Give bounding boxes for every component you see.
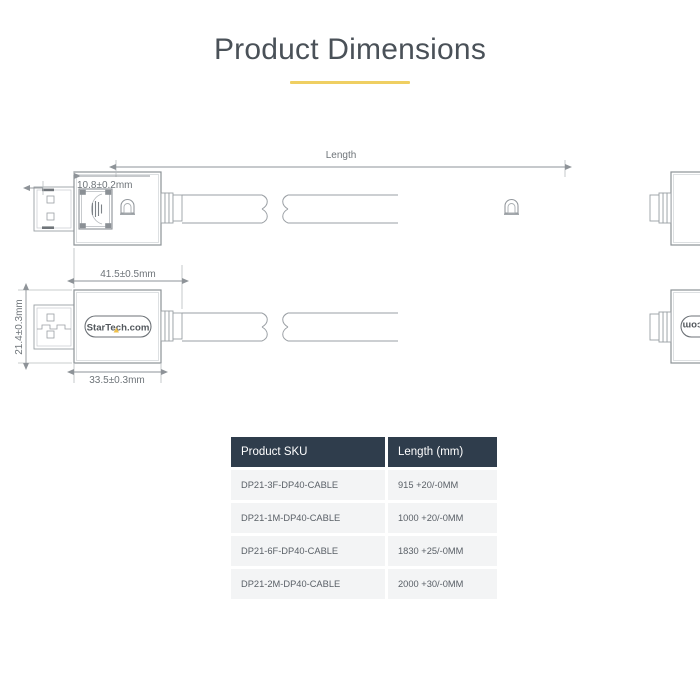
dimension-drawing-svg: Length 10.8±0.2mm [0,145,700,385]
dimension-length-label: Length [326,150,357,161]
spec-table-wrapper: Product SKU Length (mm) DP21-3F-DP40-CAB… [231,437,474,599]
table-header-row: Product SKU Length (mm) [231,437,497,470]
right-connector-top [288,172,700,245]
title-block: Product Dimensions [0,32,700,84]
cell-sku: DP21-3F-DP40-CABLE [231,470,388,503]
table-body: DP21-3F-DP40-CABLE 915 +20/-0MM DP21-1M-… [231,470,497,599]
dimension-shell-width-label: 33.5±0.3mm [89,375,145,385]
column-header-length: Length (mm) [388,437,497,470]
top-row-assembly: Length 10.8±0.2mm [30,150,700,245]
cell-length: 915 +20/-0MM [388,470,497,503]
left-connector-top [34,172,267,245]
table-row: DP21-1M-DP40-CABLE 1000 +20/-0MM [231,503,497,536]
cell-length: 2000 +30/-0MM [388,569,497,599]
page-title: Product Dimensions [0,32,700,68]
startech-logo-mirrored: StarTech.com [681,316,700,337]
cell-length: 1000 +20/-0MM [388,503,497,536]
cell-sku: DP21-2M-DP40-CABLE [231,569,388,599]
cable-break-symbol-bottom [283,313,288,341]
cell-sku: DP21-1M-DP40-CABLE [231,503,388,536]
table-row: DP21-3F-DP40-CABLE 915 +20/-0MM [231,470,497,503]
product-dimension-diagram: Length 10.8±0.2mm [0,145,700,385]
table-row: DP21-2M-DP40-CABLE 2000 +30/-0MM [231,569,497,599]
table-row: DP21-6F-DP40-CABLE 1830 +25/-0MM [231,536,497,569]
column-header-product-sku: Product SKU [231,437,388,470]
cable-break-symbol-top [283,195,288,223]
startech-logo: StarTech.com [85,316,151,337]
dimension-height-label: 21.4±0.3mm [14,299,25,355]
product-sku-length-table: Product SKU Length (mm) DP21-3F-DP40-CAB… [231,437,497,599]
dimension-plug-width-label: 10.8±0.2mm [77,180,133,191]
cell-length: 1830 +25/-0MM [388,536,497,569]
right-connector-bottom: StarTech.com [288,290,700,363]
left-connector-bottom: StarTech.com [34,290,267,363]
bottom-row-assembly: StarTech.com [14,248,700,385]
dimension-body-width-label: 41.5±0.5mm [100,269,156,280]
startech-logo-text-mirrored: StarTech.com [683,319,700,330]
title-underline-accent [290,81,410,84]
cell-sku: DP21-6F-DP40-CABLE [231,536,388,569]
dimension-length: Length [116,150,565,177]
dimension-shell-width: 33.5±0.3mm [74,364,161,385]
